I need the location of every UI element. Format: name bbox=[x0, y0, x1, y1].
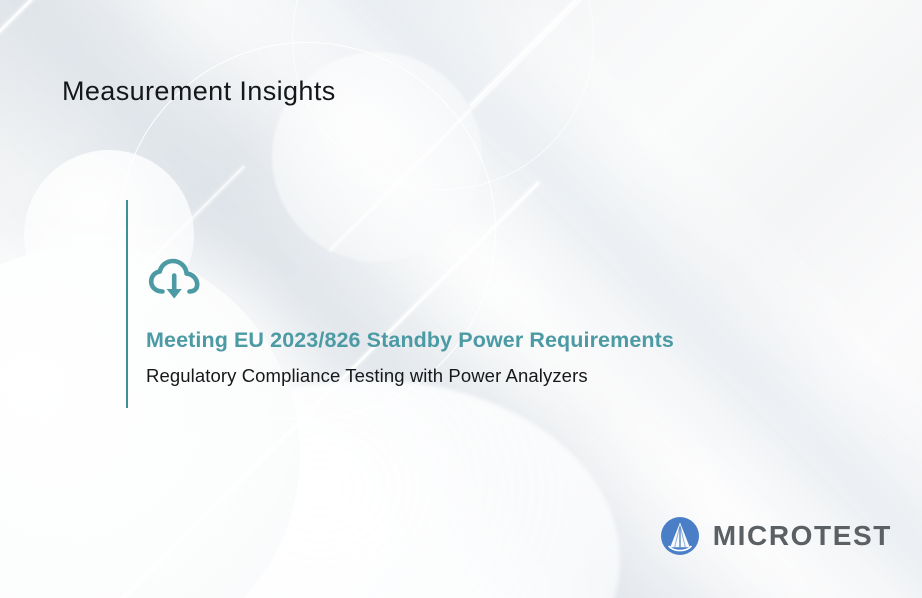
background-ring-2 bbox=[292, 0, 594, 190]
brand-lockup: MICROTEST bbox=[660, 516, 892, 556]
background-circle-4 bbox=[120, 380, 620, 598]
diagonal-hairline-3 bbox=[330, 0, 670, 251]
slide-canvas: Measurement Insights Meeting EU 2023/826… bbox=[0, 0, 922, 598]
brand-wordmark: MICROTEST bbox=[713, 522, 892, 550]
diagonal-hairline-2 bbox=[99, 182, 539, 598]
microtest-logo-icon bbox=[660, 516, 700, 556]
cloud-download-icon bbox=[146, 258, 204, 306]
diagonal-hairline-1 bbox=[0, 0, 357, 72]
diagonal-hairline-4 bbox=[469, 0, 866, 106]
accent-rule bbox=[126, 200, 128, 408]
title-block: Meeting EU 2023/826 Standby Power Requir… bbox=[146, 258, 866, 387]
section-kicker: Measurement Insights bbox=[62, 76, 336, 107]
slide-subheadline: Regulatory Compliance Testing with Power… bbox=[146, 364, 866, 387]
slide-headline: Meeting EU 2023/826 Standby Power Requir… bbox=[146, 328, 866, 354]
